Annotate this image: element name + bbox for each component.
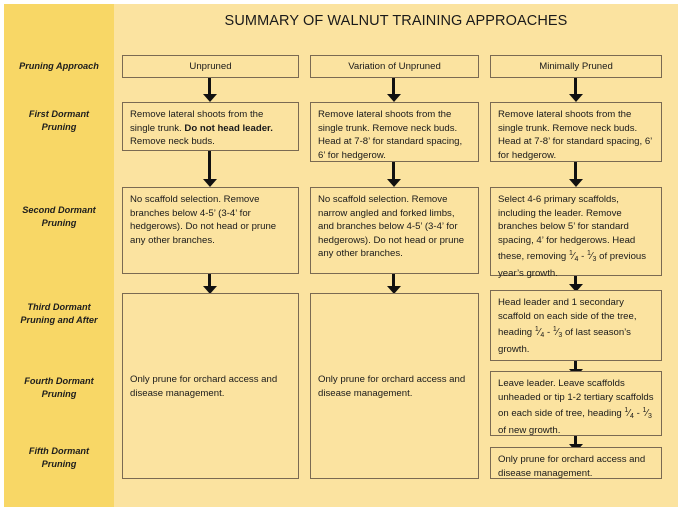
row-label-first-dormant: First DormantPruning — [6, 108, 112, 133]
row-label-sidebar — [4, 4, 114, 507]
arrow-variation-header-to-first — [387, 78, 401, 102]
arrow-minimal-header-to-first — [569, 78, 583, 102]
cell-unpruned-third-and-after[interactable]: Only prune for orchard access and diseas… — [122, 293, 299, 479]
arrow-unpruned-first-to-second — [203, 151, 217, 187]
column-header-minimally-pruned[interactable]: Minimally Pruned — [490, 55, 662, 78]
arrow-unpruned-header-to-first — [203, 78, 217, 102]
cell-minimal-fifth[interactable]: Only prune for orchard access and diseas… — [490, 447, 662, 479]
arrow-variation-first-to-second — [387, 162, 401, 187]
cell-minimal-third[interactable]: Head leader and 1 secondary scaffold on … — [490, 290, 662, 361]
arrow-minimal-first-to-second — [569, 162, 583, 187]
cell-unpruned-first[interactable]: Remove lateral shoots from the single tr… — [122, 102, 299, 151]
cell-unpruned-second[interactable]: No scaffold selection. Remove branches b… — [122, 187, 299, 274]
cell-minimal-fourth[interactable]: Leave leader. Leave scaffolds unheaded o… — [490, 371, 662, 436]
cell-minimal-first[interactable]: Remove lateral shoots from the single tr… — [490, 102, 662, 162]
row-label-second-dormant: Second DormantPruning — [6, 204, 112, 229]
cell-variation-first[interactable]: Remove lateral shoots from the single tr… — [310, 102, 479, 162]
diagram-canvas: SUMMARY OF WALNUT TRAINING APPROACHES Pr… — [4, 4, 678, 507]
row-label-pruning-approach: Pruning Approach — [6, 60, 112, 73]
column-header-variation-of-unpruned[interactable]: Variation of Unpruned — [310, 55, 479, 78]
cell-variation-second[interactable]: No scaffold selection. Remove narrow ang… — [310, 187, 479, 274]
cell-minimal-second[interactable]: Select 4-6 primary scaffolds, including … — [490, 187, 662, 276]
column-header-unpruned[interactable]: Unpruned — [122, 55, 299, 78]
row-label-fourth-dormant: Fourth DormantPruning — [6, 375, 112, 400]
cell-variation-third-and-after[interactable]: Only prune for orchard access and diseas… — [310, 293, 479, 479]
cell-unpruned-third-and-after-text: Only prune for orchard access and diseas… — [130, 373, 291, 400]
page-title: SUMMARY OF WALNUT TRAINING APPROACHES — [114, 13, 678, 29]
arrow-variation-second-to-third — [387, 274, 401, 294]
cell-variation-third-and-after-text: Only prune for orchard access and diseas… — [318, 373, 471, 400]
arrow-unpruned-second-to-third — [203, 274, 217, 294]
row-label-third-dormant: Third DormantPruning and After — [6, 301, 112, 326]
row-label-fifth-dormant: Fifth DormantPruning — [6, 445, 112, 470]
